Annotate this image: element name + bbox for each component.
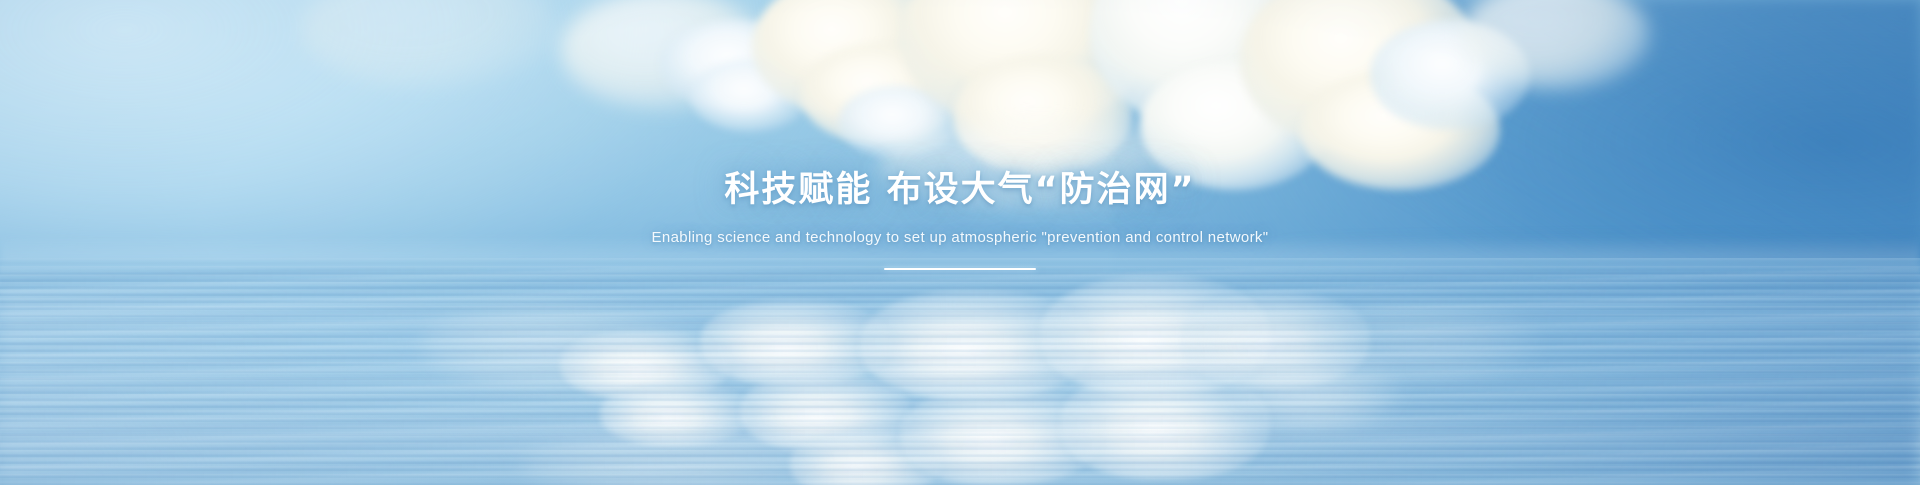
water-ripple-coarse (0, 268, 1920, 485)
hero-subtitle: Enabling science and technology to set u… (0, 228, 1920, 248)
hero-divider (884, 268, 1036, 270)
hero-title: 科技赋能 布设大气“防治网” (0, 168, 1920, 212)
hero-copy-block: 科技赋能 布设大气“防治网” Enabling science and tech… (0, 168, 1920, 270)
hero-banner: 科技赋能 布设大气“防治网” Enabling science and tech… (0, 0, 1920, 485)
